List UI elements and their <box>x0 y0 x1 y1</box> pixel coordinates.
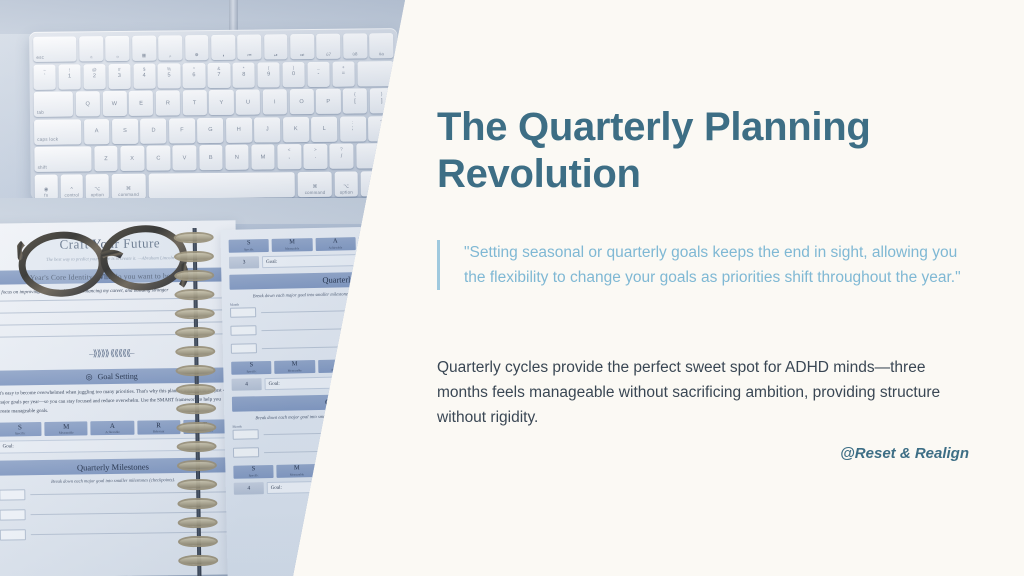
key-⏮: ⏮ <box>237 35 261 60</box>
key-8: *8 <box>233 62 256 87</box>
planner-right-smart-row: SSpecificMMeasurableAAchievableRRelevant <box>229 236 399 253</box>
key-label: 0 <box>292 71 295 77</box>
key-ὐa: ὐa <box>369 33 393 58</box>
key-secondary-label: $ <box>143 66 146 71</box>
key-blank <box>148 172 295 199</box>
spiral-ring <box>175 327 215 339</box>
month-box <box>233 429 259 440</box>
smart-cell-a: AAchievable <box>320 463 361 477</box>
key-tab: tab <box>34 92 73 117</box>
smart-cell-a: AAchievable <box>318 359 359 373</box>
key-label: 5 <box>168 73 171 79</box>
key-secondary-label: ? <box>340 147 343 152</box>
smart-cell-m: MMeasurable <box>45 422 88 437</box>
spiral-ring <box>175 346 215 358</box>
key-label: ▦ <box>142 53 146 59</box>
key-label: [ <box>354 98 356 104</box>
row-rule <box>262 345 401 349</box>
key-label: ▪ <box>376 181 378 187</box>
key-x: X <box>120 146 144 171</box>
key-secondary-label: ! <box>69 67 71 72</box>
pull-quote: "Setting seasonal or quarterly goals kee… <box>437 240 982 290</box>
month-box <box>231 343 257 354</box>
key-=: += <box>332 61 355 86</box>
smart-cell-m: MMeasurable <box>272 238 313 252</box>
keyboard-row: esc☼☼▦⌕☸◑⏮⏯⏭ὐ7ὐ8ὐa <box>33 33 393 62</box>
key-.: >. <box>304 144 328 169</box>
smart-cell-s: SSpecific <box>231 361 272 375</box>
smart-word: Relevant <box>378 470 389 474</box>
spiral-ring <box>175 365 215 377</box>
goal-number-badge: 4 <box>234 482 264 495</box>
key-s: S <box>112 119 138 144</box>
key-label: G <box>208 127 213 133</box>
key-label: ὐ7 <box>326 52 331 57</box>
spiral-ring <box>177 460 217 472</box>
key-label: V <box>183 155 187 161</box>
smart-cell-r: RRelevant <box>137 420 180 435</box>
key--: _- <box>307 61 330 86</box>
key-secondary-label: @ <box>92 67 97 72</box>
key-y: Y <box>209 90 233 115</box>
key-label: ⏮ <box>247 53 251 58</box>
key-label: caps lock <box>37 137 58 142</box>
smart-word: Relevant <box>153 429 164 433</box>
key-label: ⌕ <box>169 53 172 58</box>
key-secondary-label: _ <box>317 64 320 69</box>
month-box <box>233 447 259 458</box>
keyboard-row: caps lockASDFGHJKL:;"' <box>34 116 394 145</box>
spiral-ring <box>176 422 216 434</box>
spiral-ring <box>174 270 214 282</box>
key-secondary-label: } <box>381 91 383 96</box>
key-c: C <box>147 146 171 171</box>
key-ὐ7: ὐ7 <box>317 34 341 59</box>
key-d: D <box>141 118 167 143</box>
month-box <box>0 529 26 540</box>
row-rule <box>261 309 400 313</box>
key-label: option <box>340 190 353 195</box>
key-secondary-label: { <box>354 92 356 97</box>
spiral-ring <box>178 555 218 567</box>
planner-right-rows: Month <box>232 421 403 458</box>
key-5: %5 <box>158 63 181 88</box>
key-,: <, <box>277 144 301 169</box>
key-secondary-label: & <box>217 66 220 71</box>
key-☼: ☼ <box>79 36 103 61</box>
key-1: !1 <box>58 64 81 89</box>
key-label: B <box>209 155 213 161</box>
eyeglasses-svg <box>16 218 190 305</box>
key-7: &7 <box>208 62 231 87</box>
key-symbol: ⌥ <box>94 186 100 192</box>
key-u: U <box>236 90 260 115</box>
planner-right-row <box>230 304 400 318</box>
smart-word: Measurable <box>288 368 302 372</box>
smart-cell-r: RRelevant <box>358 236 399 250</box>
smart-cell-s: SSpecific <box>0 422 42 437</box>
key-◑: ◑ <box>211 35 235 60</box>
key-e: E <box>129 91 153 116</box>
planner-right-milestones-band: Quarterly Milestones <box>232 393 402 412</box>
content-panel: The Quarterly Planning Revolution "Setti… <box>437 0 997 576</box>
key-secondary-label: % <box>167 66 171 71</box>
spiral-binding <box>174 228 223 576</box>
key-label: 6 <box>192 72 195 78</box>
smart-letter: S <box>18 424 22 431</box>
goal-setting-label: Goal Setting <box>97 372 137 382</box>
smart-word: Relevant <box>373 244 384 248</box>
spiral-ring <box>176 384 216 396</box>
key-label: , <box>288 154 290 160</box>
key-]: }] <box>370 88 394 113</box>
smart-letter: R <box>381 464 385 470</box>
key-☼: ☼ <box>106 36 130 61</box>
slide-root: esc☼☼▦⌕☸◑⏮⏯⏭ὐ7ὐ8ὐa~`!1@2#3$4%5^6&7*8(9)0… <box>0 0 1024 576</box>
planner-right-row <box>233 444 403 458</box>
key-label: 3 <box>118 73 121 79</box>
key-label: command <box>305 190 326 195</box>
key-secondary-label: ~ <box>43 67 46 72</box>
key-label: 1 <box>68 74 71 80</box>
key-z: Z <box>94 146 118 171</box>
key-secondary-label: # <box>118 67 121 72</box>
planner-right-row <box>231 340 401 354</box>
key-label: E <box>139 100 143 106</box>
key-secondary-label: " <box>380 119 382 124</box>
key-symbol: ⌘ <box>312 184 317 190</box>
key-symbol: ◉ <box>44 187 49 193</box>
key-label: ὐ8 <box>352 51 357 56</box>
key-9: (9 <box>257 62 280 87</box>
key-label: O <box>299 99 304 105</box>
key-▦: ▦ <box>132 36 156 61</box>
key-⏯: ⏯ <box>264 34 288 59</box>
key-label: 2 <box>93 73 96 79</box>
keyboard-row: tabQWERTYUIOP{[}] <box>34 88 394 117</box>
key-o: O <box>289 89 313 114</box>
spiral-ring <box>176 403 216 415</box>
key-[: {[ <box>343 89 367 114</box>
smart-cell-a: AAchievable <box>315 237 356 251</box>
key-secondary-label: > <box>314 147 317 152</box>
smart-word: Specific <box>249 473 259 477</box>
key-label: D <box>151 128 155 134</box>
key-label: T <box>193 100 197 106</box>
key-label: ◑ <box>222 53 225 58</box>
attribution-handle: @Reset & Realign <box>437 445 969 462</box>
smart-letter: R <box>156 422 161 429</box>
smart-word: Specific <box>244 247 254 251</box>
key-label: ` <box>44 74 46 80</box>
key-label: ☼ <box>89 54 93 59</box>
key-n: N <box>225 145 249 170</box>
key-': "' <box>368 116 394 141</box>
key-label: J <box>266 127 269 133</box>
goal-number-badge: 4 <box>231 378 261 391</box>
key-label: X <box>130 156 134 162</box>
key-secondary-label: ) <box>293 65 295 70</box>
goal-input-field: Goal: <box>262 253 399 268</box>
key-label: N <box>235 155 239 161</box>
goal-input-field: Goal: <box>264 375 401 390</box>
key-command: ⌘command <box>111 174 146 199</box>
key-label: / <box>341 154 343 160</box>
key-g: G <box>197 118 223 143</box>
spiral-ring <box>178 536 218 548</box>
key-m: M <box>251 145 275 170</box>
smart-cell-m: MMeasurable <box>277 464 318 478</box>
month-box <box>0 509 26 520</box>
desk-photo: esc☼☼▦⌕☸◑⏮⏯⏭ὐ7ὐ8ὐa~`!1@2#3$4%5^6&7*8(9)0… <box>0 0 420 576</box>
planner-right-goal-row: 4 Goal: <box>231 375 401 391</box>
key-fn: ◉fn <box>35 175 58 200</box>
key-symbol: ^ <box>70 186 73 192</box>
smart-word: Achievable <box>105 430 120 434</box>
spiral-ring <box>174 232 214 244</box>
key-;: :; <box>340 116 366 141</box>
key-r: R <box>156 91 180 116</box>
key-`: ~` <box>33 64 56 89</box>
eyeglasses <box>16 218 190 305</box>
key-esc: esc <box>33 36 77 61</box>
key-label: ⏭ <box>300 52 304 57</box>
key-f: F <box>169 118 195 143</box>
key-secondary-label: : <box>352 119 354 124</box>
row-rule <box>264 431 403 435</box>
key-label: Z <box>104 156 108 162</box>
planner-right-milestones-band: Quarterly Milestones <box>229 271 399 290</box>
key-label: Q <box>85 101 90 107</box>
key-label: M <box>261 154 266 160</box>
key-label: 4 <box>143 73 146 79</box>
spiral-ring <box>177 498 217 510</box>
smart-word: Measurable <box>285 246 299 250</box>
key-⏭: ⏭ <box>290 34 314 59</box>
keyboard-row: ~`!1@2#3$4%5^6&7*8(9)0_-+= <box>33 61 393 90</box>
smart-cell-r: RRelevant <box>361 358 402 372</box>
key-label: ] <box>381 98 383 104</box>
smart-word: Measurable <box>290 472 304 476</box>
key-q: Q <box>76 91 100 116</box>
key-symbol: ⌥ <box>343 184 349 190</box>
planner-right-smart-row: SSpecificMMeasurableAAchievableRRelevant <box>231 358 401 375</box>
key-label: . <box>315 154 317 160</box>
key-j: J <box>254 117 280 142</box>
key-label: 9 <box>267 72 270 78</box>
smart-word: Specific <box>247 369 257 373</box>
key-label: ☼ <box>116 54 120 59</box>
smart-cell-r: RRelevant <box>363 462 404 476</box>
smart-word: Achievable <box>329 245 343 249</box>
spiral-ring <box>175 308 215 320</box>
key-blank <box>356 143 395 168</box>
key-w: W <box>102 91 126 116</box>
key-option: ⌥option <box>335 171 358 196</box>
key-a: A <box>84 119 110 144</box>
key-label: I <box>274 99 276 105</box>
key-0: )0 <box>282 62 305 87</box>
key-secondary-label: < <box>288 148 291 153</box>
smart-word: Specific <box>15 431 26 435</box>
key-label: 7 <box>217 72 220 78</box>
key-symbol: ⌘ <box>126 186 131 192</box>
pull-quote-text: "Setting seasonal or quarterly goals kee… <box>464 240 982 290</box>
key-option: ⌥option <box>86 174 109 199</box>
smart-word: Achievable <box>331 367 345 371</box>
key-secondary-label: + <box>342 64 345 69</box>
key-control: ^control <box>60 174 83 199</box>
planner-right-goal-row: 4 Goal: <box>234 479 404 495</box>
key-label: ⏯ <box>274 52 278 57</box>
key-p: P <box>316 89 340 114</box>
month-box <box>230 307 256 318</box>
planner-right-page: SSpecificMMeasurableAAchievableRRelevant… <box>220 226 413 576</box>
key-blank <box>357 61 394 86</box>
row-rule <box>264 449 403 453</box>
keyboard: esc☼☼▦⌕☸◑⏮⏯⏭ὐ7ὐ8ὐa~`!1@2#3$4%5^6&7*8(9)0… <box>29 28 399 200</box>
key-shift: shift <box>34 147 92 173</box>
key-label: C <box>156 155 160 161</box>
key-▪: ▪ <box>360 171 395 196</box>
key-6: ^6 <box>183 63 206 88</box>
key-v: V <box>173 146 197 171</box>
planner-right-goal-row: 3 Goal: <box>229 253 399 269</box>
key-label: R <box>166 100 170 106</box>
smart-cell-s: SSpecific <box>229 239 270 253</box>
key-label: - <box>317 71 319 77</box>
body-paragraph: Quarterly cycles provide the perfect swe… <box>437 355 969 430</box>
key-h: H <box>226 117 252 142</box>
smart-letter: A <box>338 465 343 472</box>
smart-word: Relevant <box>376 366 387 370</box>
keyboard-row: ◉fn^control⌥option⌘command⌘command⌥optio… <box>35 171 395 200</box>
planner-right-milestones-caption: Break down each major goal into smaller … <box>232 412 402 421</box>
key-4: $4 <box>133 63 156 88</box>
spiral-ring <box>174 251 214 263</box>
key-l: L <box>311 116 337 141</box>
smart-letter: R <box>379 360 383 366</box>
smart-word: Measurable <box>59 430 74 434</box>
spiral-ring <box>174 289 214 301</box>
smart-cell-a: AAchievable <box>91 421 134 436</box>
key-2: @2 <box>83 64 106 89</box>
planner-right-smart-row: SSpecificMMeasurableAAchievableRRelevant <box>233 462 403 479</box>
key-/: ?/ <box>330 144 354 169</box>
keyboard-row: shiftZXCVBNM<,>.?/ <box>34 143 394 172</box>
smart-cell-m: MMeasurable <box>274 360 315 374</box>
key-☸: ☸ <box>185 35 209 60</box>
key-⌕: ⌕ <box>158 35 182 60</box>
row-rule <box>261 327 400 331</box>
key-label: command <box>118 192 139 197</box>
smart-letter: R <box>376 238 380 244</box>
page-title: The Quarterly Planning Revolution <box>437 104 907 198</box>
key-3: #3 <box>108 63 131 88</box>
key-caps-lock: caps lock <box>34 119 81 144</box>
key-label: ὐa <box>379 51 384 56</box>
goal-number-badge: 3 <box>229 256 259 269</box>
key-label: Y <box>219 100 223 106</box>
key-label: shift <box>38 165 47 170</box>
month-box <box>0 489 25 500</box>
key-t: T <box>182 90 206 115</box>
smart-cell-s: SSpecific <box>233 465 274 479</box>
smart-letter: A <box>335 361 340 368</box>
key-label: A <box>95 128 99 134</box>
key-label: S <box>123 128 127 134</box>
spiral-ring <box>177 479 217 491</box>
key-label: esc <box>36 54 44 59</box>
key-secondary-label: * <box>243 65 245 70</box>
month-box <box>230 325 256 336</box>
key-label: ; <box>352 126 354 132</box>
spiral-ring <box>177 441 217 453</box>
key-label: W <box>112 101 118 107</box>
smart-word: Achievable <box>333 471 347 475</box>
key-command: ⌘command <box>298 172 333 197</box>
key-label: option <box>91 193 104 198</box>
key-i: I <box>263 89 287 114</box>
key-label: L <box>323 126 326 132</box>
key-b: B <box>199 145 223 170</box>
spiral-ring <box>178 517 218 529</box>
key-label: F <box>180 128 184 134</box>
key-label: H <box>237 127 241 133</box>
goal-input-field: Goal: <box>267 479 404 494</box>
key-label: = <box>342 71 346 77</box>
key-label: P <box>326 98 330 104</box>
key-secondary-label: ^ <box>193 66 195 71</box>
key-ὐ8: ὐ8 <box>343 33 367 58</box>
planner-right-rows: Month <box>230 299 401 354</box>
key-label: ' <box>381 126 382 132</box>
key-label: 8 <box>242 72 245 78</box>
key-label: ☸ <box>195 52 199 58</box>
key-label: K <box>294 126 298 132</box>
key-k: K <box>283 117 309 142</box>
planner-right-row <box>233 426 403 440</box>
planner-right-milestones-caption: Break down each major goal into smaller … <box>230 290 400 299</box>
key-label: U <box>246 99 250 105</box>
key-secondary-label: ( <box>268 65 270 70</box>
goal-setting-icon: ◎ <box>86 372 93 381</box>
planner-right-row <box>230 322 400 336</box>
key-label: tab <box>37 109 44 114</box>
